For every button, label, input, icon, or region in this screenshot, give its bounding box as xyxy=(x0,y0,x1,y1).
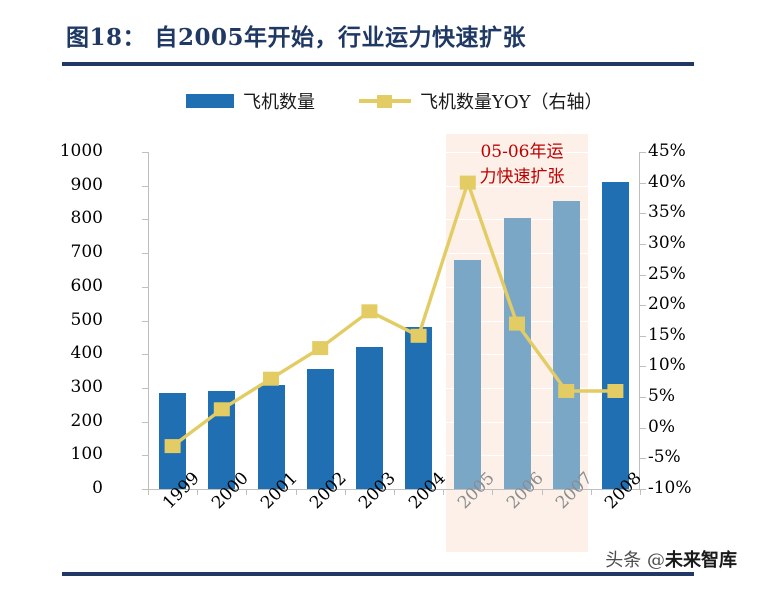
y-axis-left-line xyxy=(148,152,149,490)
y-left-tick-label: 300 xyxy=(71,377,103,397)
legend-line-swatch-icon xyxy=(359,94,411,108)
y-right-tick xyxy=(640,244,646,245)
y-right-tick xyxy=(640,366,646,367)
y-left-tick xyxy=(142,186,148,187)
y-right-tick-label: 40% xyxy=(648,172,686,192)
y-left-tick-label: 900 xyxy=(71,175,103,195)
y-right-tick xyxy=(640,336,646,337)
y-left-tick xyxy=(142,152,148,153)
x-tick xyxy=(542,489,543,495)
watermark-brand: 未来智库 xyxy=(665,550,737,571)
x-tick xyxy=(296,489,297,495)
yoy-marker-2001 xyxy=(263,372,279,386)
yoy-marker-2007 xyxy=(558,384,574,398)
y-left-tick-label: 800 xyxy=(71,208,103,228)
x-tick xyxy=(591,489,592,495)
y-left-tick xyxy=(142,455,148,456)
annotation-2005-2006-expansion: 05-06年运 力快速扩张 xyxy=(462,140,582,189)
x-tick xyxy=(443,489,444,495)
y-right-tick-label: -10% xyxy=(648,478,692,498)
y-axis-right-line xyxy=(639,152,640,490)
annotation-line-2: 力快速扩张 xyxy=(462,165,582,190)
y-left-tick-label: 100 xyxy=(71,444,103,464)
y-right-tick-label: 25% xyxy=(648,264,686,284)
y-left-tick-label: 600 xyxy=(71,276,103,296)
yoy-marker-2004 xyxy=(411,329,427,343)
y-right-tick-label: 0% xyxy=(648,417,675,437)
yoy-marker-2000 xyxy=(214,402,230,416)
y-left-tick xyxy=(142,388,148,389)
y-left-tick xyxy=(142,422,148,423)
y-right-tick xyxy=(640,397,646,398)
y-right-tick-label: 5% xyxy=(648,386,675,406)
yoy-marker-2008 xyxy=(607,384,623,398)
y-right-tick xyxy=(640,305,646,306)
y-right-tick-label: 35% xyxy=(648,202,686,222)
y-right-tick xyxy=(640,213,646,214)
y-right-tick xyxy=(640,152,646,153)
plot-area xyxy=(148,152,640,489)
y-right-tick-label: 10% xyxy=(648,355,686,375)
y-left-tick-label: 1000 xyxy=(60,141,103,161)
legend-item-aircraft-yoy: 飞机数量YOY（右轴） xyxy=(359,88,603,114)
y-left-tick xyxy=(142,219,148,220)
y-left-tick-label: 0 xyxy=(92,478,103,498)
yoy-marker-2006 xyxy=(509,317,525,331)
y-left-tick-label: 700 xyxy=(71,242,103,262)
yoy-marker-1999 xyxy=(165,439,181,453)
y-right-tick-label: 15% xyxy=(648,325,686,345)
title-rule-top xyxy=(62,62,694,66)
y-left-tick xyxy=(142,354,148,355)
chart-title: 图18： 自2005年开始，行业运力快速扩张 xyxy=(66,18,526,52)
y-right-tick-label: -5% xyxy=(648,447,681,467)
x-tick xyxy=(640,489,641,495)
line-series-aircraft-yoy xyxy=(148,152,640,489)
legend-label-aircraft-count: 飞机数量 xyxy=(243,88,315,114)
y-left-tick-label: 200 xyxy=(71,411,103,431)
y-right-tick xyxy=(640,275,646,276)
y-right-tick xyxy=(640,428,646,429)
legend-bar-swatch-icon xyxy=(186,94,234,108)
legend-item-aircraft-count: 飞机数量 xyxy=(186,88,315,114)
y-right-tick-label: 30% xyxy=(648,233,686,253)
x-tick xyxy=(246,489,247,495)
annotation-line-1: 05-06年运 xyxy=(462,140,582,165)
watermark: 头条 @未来智库 xyxy=(605,546,737,572)
y-left-tick xyxy=(142,321,148,322)
y-right-tick-label: 20% xyxy=(648,294,686,314)
x-tick xyxy=(197,489,198,495)
y-right-tick-label: 45% xyxy=(648,141,686,161)
y-left-tick-label: 500 xyxy=(71,310,103,330)
x-tick xyxy=(492,489,493,495)
x-tick xyxy=(345,489,346,495)
footer-rule-bottom xyxy=(62,572,694,576)
y-left-tick xyxy=(142,287,148,288)
y-left-tick xyxy=(142,253,148,254)
y-right-tick xyxy=(640,458,646,459)
y-left-tick-label: 400 xyxy=(71,343,103,363)
y-right-tick xyxy=(640,183,646,184)
chart-figure: 图18： 自2005年开始，行业运力快速扩张 飞机数量 飞机数量YOY（右轴） … xyxy=(0,0,759,589)
yoy-line-path xyxy=(173,183,616,447)
yoy-marker-2003 xyxy=(361,304,377,318)
yoy-marker-2002 xyxy=(312,341,328,355)
chart-legend: 飞机数量 飞机数量YOY（右轴） xyxy=(186,88,603,114)
watermark-prefix: 头条 @ xyxy=(605,550,665,571)
legend-label-aircraft-yoy: 飞机数量YOY（右轴） xyxy=(420,88,603,114)
x-tick xyxy=(148,489,149,495)
x-tick xyxy=(394,489,395,495)
